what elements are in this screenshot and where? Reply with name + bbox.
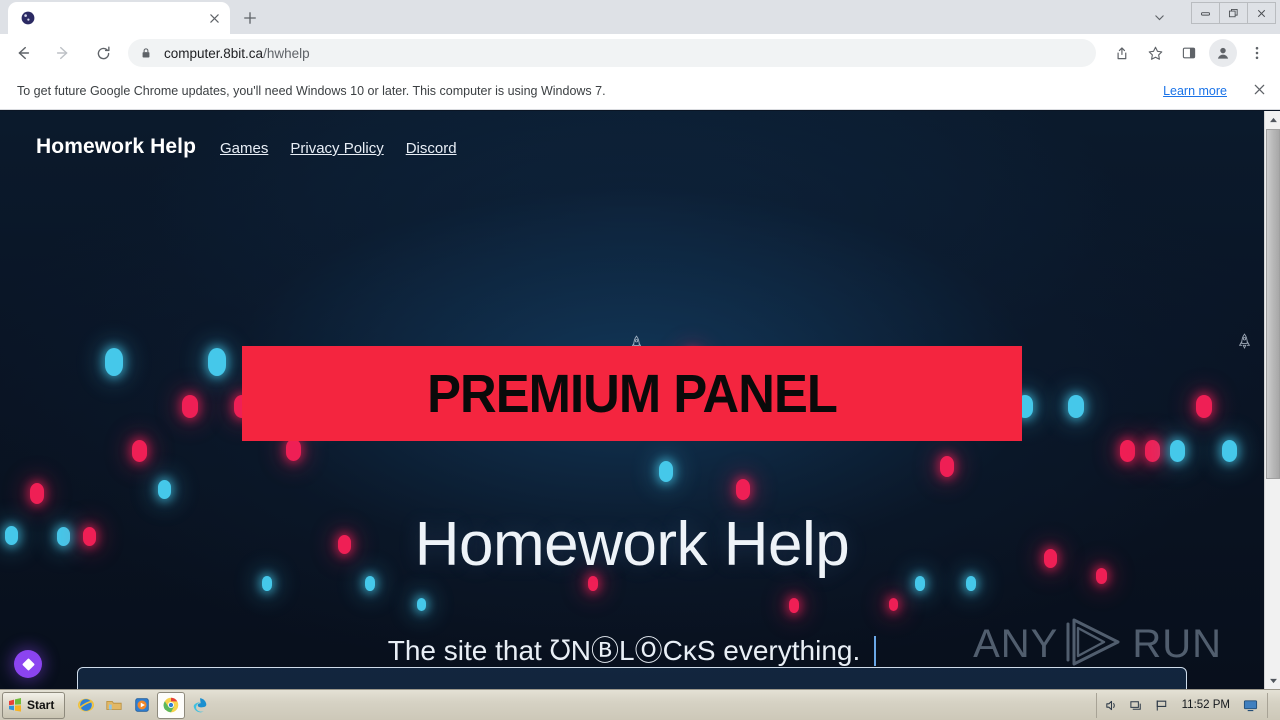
particle-pink <box>889 598 898 611</box>
media-player-icon[interactable] <box>129 693 155 718</box>
watermark-text-right: RUN <box>1132 622 1222 667</box>
diamond-shape <box>22 658 35 671</box>
particle-cyan <box>105 348 123 376</box>
forward-arrow-icon[interactable] <box>46 36 80 70</box>
scroll-up-arrow-icon[interactable] <box>1265 111 1280 128</box>
edge-icon[interactable] <box>187 693 213 718</box>
site-nav-links: Games Privacy Policy Discord <box>220 140 457 157</box>
system-tray: 11:52 PM <box>1096 693 1265 718</box>
star-icon[interactable] <box>1141 39 1169 67</box>
premium-panel-label: PREMIUM PANEL <box>427 363 837 425</box>
tab-strip <box>0 0 264 34</box>
window-controls <box>1192 2 1276 24</box>
particle-pink <box>1196 395 1212 418</box>
url-host: computer.8bit.ca <box>164 46 263 61</box>
rocket-icon <box>1238 333 1251 356</box>
particle-pink <box>940 456 954 477</box>
particle-cyan <box>1170 440 1185 462</box>
particle-pink <box>286 439 301 461</box>
action-flag-icon[interactable] <box>1153 697 1170 714</box>
page-scrollbar[interactable] <box>1264 111 1280 689</box>
infobar-message: To get future Google Chrome updates, you… <box>17 84 606 98</box>
particle-pink <box>182 395 198 418</box>
chevron-down-icon[interactable] <box>1146 4 1172 30</box>
particle-pink <box>789 598 799 613</box>
internet-explorer-icon[interactable] <box>73 693 99 718</box>
scroll-down-arrow-icon[interactable] <box>1265 672 1280 689</box>
back-arrow-icon[interactable] <box>6 36 40 70</box>
site-navbar: Homework Help Games Privacy Policy Disco… <box>0 135 1264 159</box>
explorer-folder-icon[interactable] <box>101 693 127 718</box>
start-button[interactable]: Start <box>2 692 65 719</box>
screen: computer.8bit.ca/hwhelp <box>0 0 1280 720</box>
particle-cyan <box>158 480 171 499</box>
learn-more-link[interactable]: Learn more <box>1163 84 1227 98</box>
website-body: Homework Help Games Privacy Policy Disco… <box>0 111 1264 689</box>
site-favicon <box>20 10 36 26</box>
scrollbar-thumb[interactable] <box>1266 129 1280 479</box>
lock-icon <box>140 46 154 60</box>
new-tab-button[interactable] <box>236 4 264 32</box>
url-path: /hwhelp <box>263 46 310 61</box>
premium-panel-banner[interactable]: PREMIUM PANEL <box>242 346 1022 441</box>
infobar-actions: Learn more <box>1163 83 1280 98</box>
typing-caret <box>874 636 876 666</box>
particle-cyan <box>208 348 226 376</box>
close-icon[interactable] <box>1253 83 1266 98</box>
three-dot-menu-icon[interactable] <box>1243 39 1271 67</box>
browser-tab[interactable] <box>8 2 230 34</box>
taskbar-clock[interactable]: 11:52 PM <box>1178 699 1234 711</box>
content-card[interactable] <box>77 667 1187 689</box>
windows-flag-icon <box>7 697 23 713</box>
page-viewport: Homework Help Games Privacy Policy Disco… <box>0 111 1280 689</box>
minimize-icon[interactable] <box>1191 2 1220 24</box>
toolbar-icon-group <box>1104 39 1280 67</box>
particle-pink <box>1145 440 1160 462</box>
url-text: computer.8bit.ca/hwhelp <box>164 46 310 61</box>
particle-pink <box>132 440 147 462</box>
update-infobar: To get future Google Chrome updates, you… <box>0 72 1280 110</box>
particle-cyan <box>1068 395 1084 418</box>
watermark-text-left: ANY <box>973 622 1058 667</box>
nav-link-privacy-policy[interactable]: Privacy Policy <box>290 140 383 157</box>
reload-icon[interactable] <box>86 36 120 70</box>
show-desktop-icon[interactable] <box>1242 697 1259 714</box>
browser-titlebar <box>0 0 1280 34</box>
diamond-badge-icon[interactable] <box>14 650 42 678</box>
restore-icon[interactable] <box>1219 2 1248 24</box>
share-icon[interactable] <box>1107 39 1135 67</box>
close-icon[interactable] <box>206 10 222 26</box>
particle-cyan <box>417 598 426 611</box>
particle-cyan <box>1222 440 1237 462</box>
chrome-icon[interactable] <box>157 692 185 719</box>
anyrun-watermark: ANY RUN <box>973 614 1222 675</box>
hero-subtitle-text: The site that ᘮNⒷLⓄCᴋS everything. <box>388 635 861 666</box>
start-label: Start <box>27 698 54 712</box>
particle-cyan <box>659 461 673 482</box>
hero-title: Homework Help <box>0 509 1264 580</box>
site-brand[interactable]: Homework Help <box>36 135 196 159</box>
address-bar[interactable]: computer.8bit.ca/hwhelp <box>128 39 1096 67</box>
quick-launch-bar <box>73 692 213 719</box>
side-panel-icon[interactable] <box>1175 39 1203 67</box>
profile-avatar-icon[interactable] <box>1209 39 1237 67</box>
nav-link-games[interactable]: Games <box>220 140 268 157</box>
close-icon[interactable] <box>1247 2 1276 24</box>
play-triangle-icon <box>1064 614 1126 675</box>
browser-toolbar: computer.8bit.ca/hwhelp <box>0 34 1280 72</box>
network-icon[interactable] <box>1128 697 1145 714</box>
particle-pink <box>30 483 44 504</box>
windows-taskbar: Start <box>0 689 1280 720</box>
nav-link-discord[interactable]: Discord <box>406 140 457 157</box>
volume-icon[interactable] <box>1103 697 1120 714</box>
show-desktop-strip[interactable] <box>1267 693 1280 718</box>
particle-pink <box>736 479 750 500</box>
particle-pink <box>1120 440 1135 462</box>
